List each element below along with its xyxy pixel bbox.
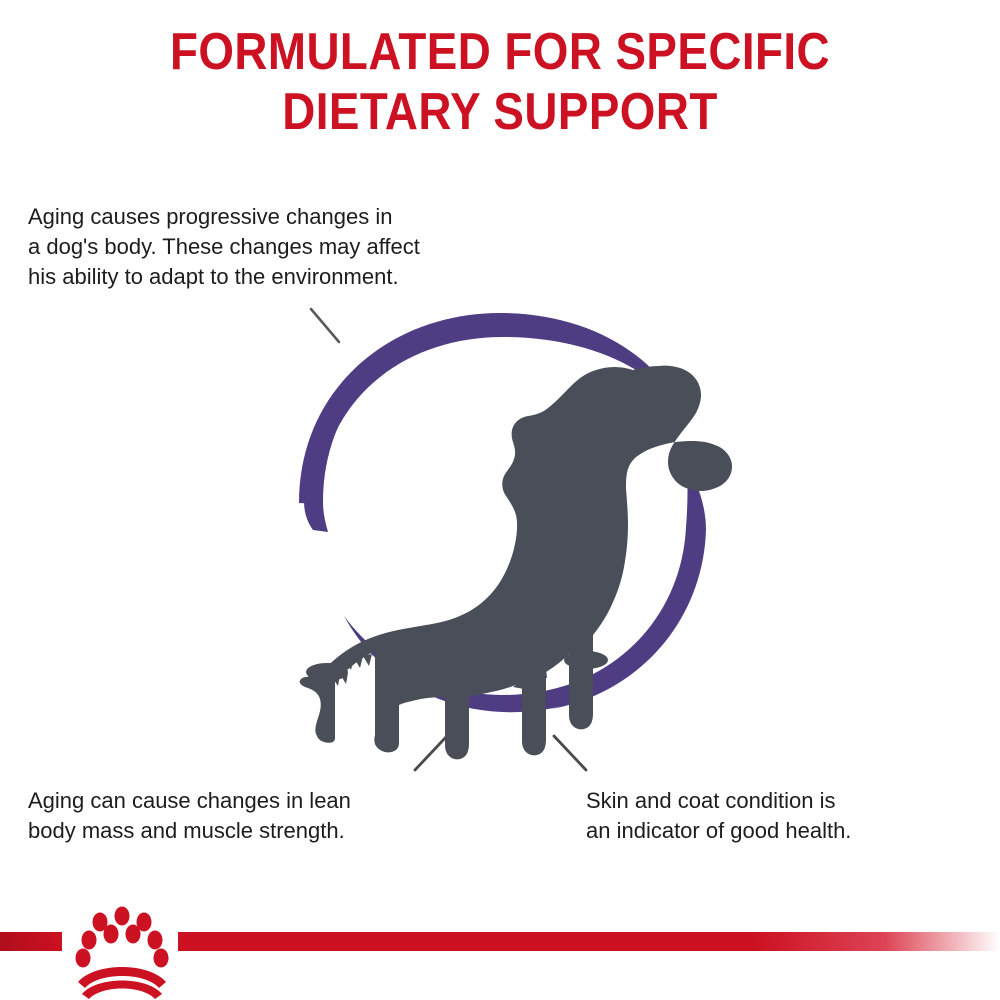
dog-silhouette-icon [0,0,1000,1000]
purple-ring-icon [0,0,1000,1000]
footer-bar-right [178,932,1000,951]
footer-bar-left [0,932,62,951]
infographic-page: FORMULATED FOR SPECIFIC DIETARY SUPPORT [0,0,1000,1000]
royal-canin-brand-bar [0,900,1000,1000]
dog-feathering [316,579,573,690]
dog-body-shape [316,353,734,700]
crown-icon [76,907,169,1000]
dog-outline-path [300,366,732,760]
leader-line-bottom-right [554,736,970,770]
ring-stroke-group [299,313,706,712]
dog-paws [306,651,608,681]
page-title: FORMULATED FOR SPECIFIC DIETARY SUPPORT [60,22,940,142]
callout-bottom-left: Aging can cause changes in lean body mas… [28,786,468,846]
footer [0,900,1000,1000]
callout-bottom-right: Skin and coat condition is an indicator … [586,786,986,846]
leader-line-bottom-left [30,736,447,770]
leader-line-top-left [30,309,339,342]
callout-top-left: Aging causes progressive changes in a do… [28,202,548,292]
leader-lines-layer [0,0,1000,1000]
